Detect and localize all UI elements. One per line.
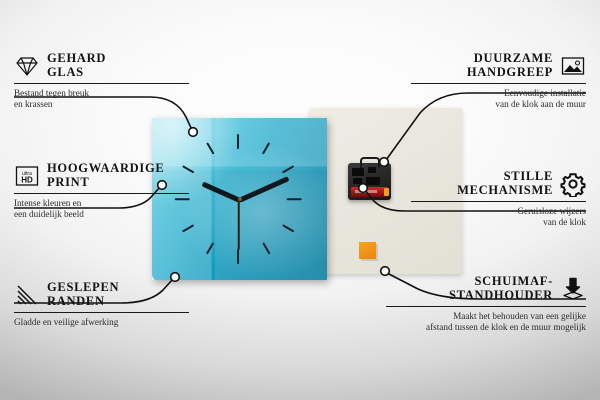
- feature-title: STANDHOUDER: [449, 289, 553, 303]
- feature-desc: Eenvoudige installatie: [411, 88, 586, 99]
- feature-desc: en krassen: [14, 99, 189, 110]
- feature-title: SCHUIMAF-: [449, 275, 553, 289]
- divider: [14, 193, 189, 194]
- feature-desc: van de klok aan de muur: [411, 99, 586, 110]
- battery-positive-terminal: [384, 188, 389, 196]
- feature-title: GLAS: [47, 66, 106, 80]
- clock-mechanism: [348, 163, 391, 200]
- feature-high-quality-print: ultra HD HOOGWAARDIGE PRINT Intense kleu…: [14, 162, 189, 220]
- feature-desc: van de klok: [411, 217, 586, 228]
- feature-title: GESLEPEN: [47, 281, 119, 295]
- feature-foam-spacer: SCHUIMAF- STANDHOUDER Maakt het behouden…: [386, 275, 586, 333]
- second-hand: [238, 200, 240, 250]
- press-down-icon: [560, 276, 586, 302]
- mechanism-slot: [368, 167, 376, 173]
- infographic-canvas: GEHARD GLAS Bestand tegen breuk en krass…: [0, 0, 600, 400]
- feature-title: HANDGREEP: [467, 66, 553, 80]
- picture-frame-icon: [560, 53, 586, 79]
- feature-tempered-glass: GEHARD GLAS Bestand tegen breuk en krass…: [14, 52, 189, 110]
- feature-desc: Intense kleuren en: [14, 198, 189, 209]
- divider: [14, 312, 189, 313]
- feature-title: MECHANISME: [457, 184, 553, 198]
- divider: [411, 201, 586, 202]
- feature-desc: afstand tussen de klok en de muur mogeli…: [386, 322, 586, 333]
- feature-polished-edges: GESLEPEN RANDEN Gladde en veilige afwerk…: [14, 281, 189, 328]
- gear-icon: [560, 171, 586, 197]
- divider: [14, 83, 189, 84]
- mechanism-slot: [352, 168, 364, 176]
- feature-silent-mechanism: STILLE MECHANISME Geruisloze wijzers van…: [411, 170, 586, 228]
- feature-title: HOOGWAARDIGE: [47, 162, 164, 176]
- mechanism-slot: [366, 177, 380, 185]
- svg-text:HD: HD: [21, 175, 33, 184]
- feature-desc: Maakt het behouden van een gelijke: [386, 311, 586, 322]
- feature-desc: een duidelijk beeld: [14, 209, 189, 220]
- feature-desc: Geruisloze wijzers: [411, 206, 586, 217]
- beveled-edges-icon: [14, 282, 40, 308]
- mechanism-slot: [353, 178, 362, 184]
- feature-desc: Gladde en veilige afwerking: [14, 317, 189, 328]
- foam-spacer-piece: [359, 242, 376, 259]
- diamond-icon: [14, 53, 40, 79]
- divider: [386, 306, 586, 307]
- feature-title: PRINT: [47, 176, 164, 190]
- feature-title: GEHARD: [47, 52, 106, 66]
- divider: [411, 83, 586, 84]
- battery-label: [355, 190, 377, 193]
- battery: [351, 187, 388, 197]
- feature-title: DUURZAME: [467, 52, 553, 66]
- feature-durable-hanger: DUURZAME HANDGREEP Eenvoudige installati…: [411, 52, 586, 110]
- feature-title: RANDEN: [47, 295, 119, 309]
- ultra-hd-icon: ultra HD: [14, 163, 40, 189]
- feature-title: STILLE: [457, 170, 553, 184]
- clock-center-pin: [238, 197, 242, 201]
- feature-desc: Bestand tegen breuk: [14, 88, 189, 99]
